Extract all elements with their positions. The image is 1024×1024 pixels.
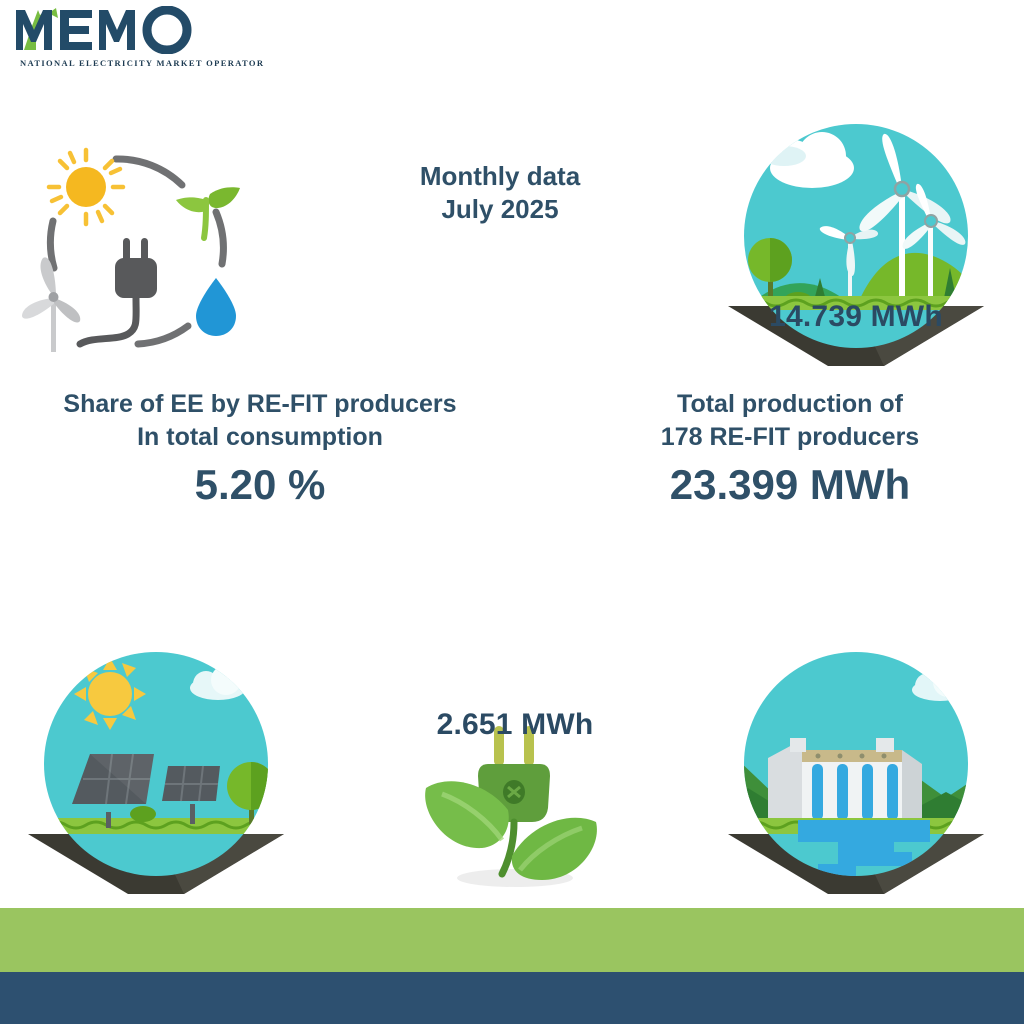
memo-logo-mark [12, 6, 212, 54]
sprout-icon [176, 187, 240, 238]
solar-panels-icon [6, 646, 306, 896]
sun-icon [74, 658, 146, 730]
water-drop-icon [196, 278, 236, 336]
stat-total-line2: 178 RE-FIT producers [560, 421, 1020, 454]
solar-scene-card: 2.008 MWh [6, 646, 306, 896]
sun-icon [49, 150, 123, 224]
stat-share-value: 5.20 % [20, 459, 500, 512]
biomass-scene-card: 2.651 MWh [390, 690, 640, 900]
infographic-page: NATIONAL ELECTRICITY MARKET OPERATOR [0, 0, 1024, 1024]
footer-band-navy [0, 972, 1024, 1024]
wind-turbines-icon [706, 118, 1006, 368]
dam-structure [768, 738, 922, 822]
stat-share-of-ee: Share of EE by RE-FIT producers In total… [20, 388, 500, 511]
monthly-heading-line1: Monthly data [330, 160, 670, 193]
hydro-dam-icon [706, 646, 1006, 896]
stat-total-line1: Total production of [560, 388, 1020, 421]
wind-scene-card: 14.739 MWh [706, 118, 1006, 368]
stat-share-line1: Share of EE by RE-FIT producers [20, 388, 500, 421]
wind-turbine-icon [22, 257, 80, 352]
memo-logo: NATIONAL ELECTRICITY MARKET OPERATOR [12, 6, 222, 72]
stat-total-production: Total production of 178 RE-FIT producers… [560, 388, 1020, 511]
footer-band-green [0, 908, 1024, 972]
cloud-icon [912, 667, 968, 701]
stat-total-value: 23.399 MWh [560, 459, 1020, 512]
renewable-energy-cycle-icon [10, 128, 258, 360]
leaf-right [512, 818, 597, 880]
monthly-heading: Monthly data July 2025 [330, 160, 670, 227]
hydro-scene-card: 4.001 MWh [706, 646, 1006, 896]
stat-share-line2: In total consumption [20, 421, 500, 454]
monthly-heading-line2: July 2025 [330, 193, 670, 226]
green-plug-leaf-icon [390, 690, 640, 900]
logo-tagline: NATIONAL ELECTRICITY MARKET OPERATOR [20, 58, 264, 68]
power-plug-icon [80, 238, 157, 344]
